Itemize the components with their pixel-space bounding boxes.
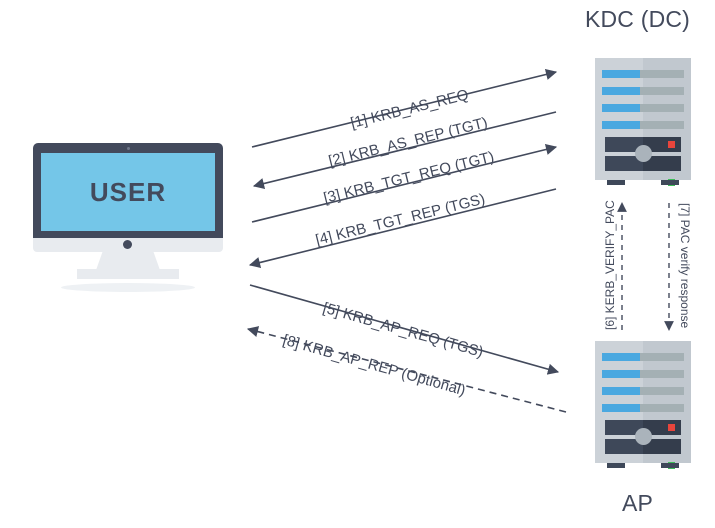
server-slot-bar [640,353,684,361]
server-foot [607,180,625,185]
flow-arrow-3: [3] KRB_TGT_REQ (TGT) [252,147,556,222]
flow-label-7: [7] PAC verify response [678,203,692,328]
server-slot-bar [602,104,640,112]
user-screen-label: USER [90,177,166,208]
flow-arrow-4: [4] KRB_TGT_REP (TGS) [250,189,556,265]
server-slot-bar [602,87,640,95]
flow-arrow-7: [7] PAC verify response [669,203,692,330]
flow-arrow-6: [6] KERB_VERIFY_PAC [603,200,622,330]
server-slot-bar [602,121,640,129]
monitor-shadow [61,283,195,292]
server-slot-bar [602,353,640,361]
flow-label-5: [5] KRB_AP_REQ (TGS) [321,299,485,361]
monitor-power-dot [123,240,132,249]
flow-label-4: [4] KRB_TGT_REP (TGS) [314,191,487,249]
server-front-panel [605,420,681,454]
server-slot-bar [602,70,640,78]
flow-arrow-8: [8] KRB_AP_REP (Optional) [248,329,566,412]
status-led-red [668,424,675,431]
ap-node-title: AP [560,490,715,517]
server-slot-bar [640,104,684,112]
server-slot-bar [640,121,684,129]
kdc-node-title: KDC (DC) [560,6,715,33]
flow-arrow-5: [5] KRB_AP_REQ (TGS) [250,285,558,372]
flow-label-1: [1] KRB_AS_REQ [349,86,470,132]
user-workstation-icon: USER [33,143,223,295]
server-knob-icon [635,428,652,445]
monitor-bezel: USER [33,143,223,238]
server-foot [661,463,679,468]
flow-arrow-1: [1] KRB_AS_REQ [252,72,556,147]
server-foot [661,180,679,185]
server-slot-bar [640,404,684,412]
flow-arrow-2: [2] KRB_AS_REP (TGT) [254,112,556,186]
kdc-server-icon [595,58,691,188]
server-foot [607,463,625,468]
server-slot-bar [640,70,684,78]
flow-label-8: [8] KRB_AP_REP (Optional) [281,331,467,399]
server-front-panel [605,137,681,171]
flow-label-3: [3] KRB_TGT_REQ (TGT) [322,148,496,207]
status-led-red [668,141,675,148]
flow-label-2: [2] KRB_AS_REP (TGT) [327,114,489,170]
server-slot-bar [640,387,684,395]
server-knob-icon [635,145,652,162]
server-slot-bar [602,370,640,378]
webcam-icon [127,147,130,150]
server-slot-bar [640,370,684,378]
server-slot-bar [602,404,640,412]
server-slot-bar [640,87,684,95]
server-slot-bar [602,387,640,395]
kerberos-flow-diagram: KDC (DC) AP USER [0,0,715,528]
ap-server-icon [595,341,691,471]
flow-label-6: [6] KERB_VERIFY_PAC [603,200,617,330]
monitor-screen: USER [41,153,215,231]
